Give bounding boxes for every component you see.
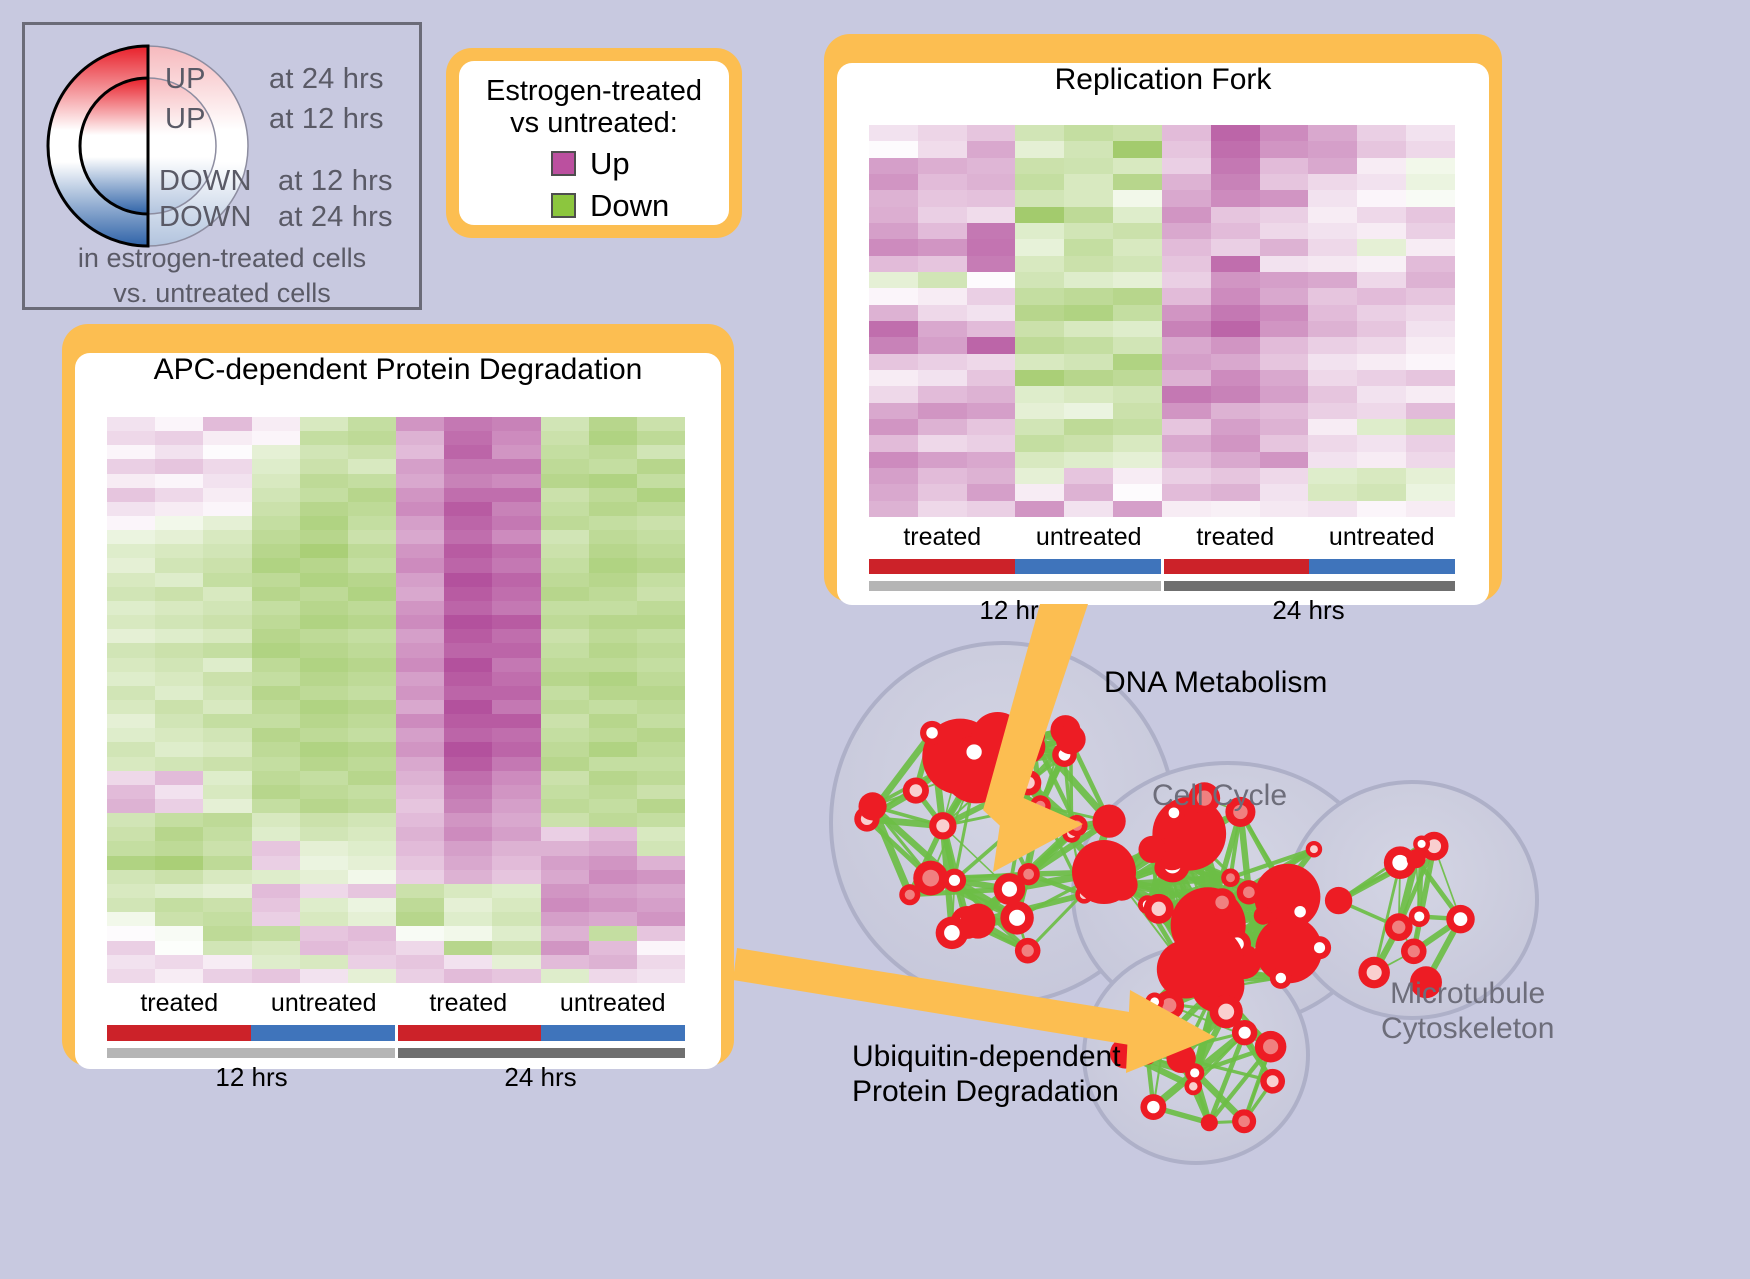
heatmap-cell xyxy=(1113,337,1162,353)
heatmap-cell xyxy=(589,488,637,502)
heatmap-cell xyxy=(589,912,637,926)
network-edge xyxy=(1244,1047,1270,1122)
network-node[interactable] xyxy=(1140,1094,1166,1120)
network-node[interactable] xyxy=(1385,913,1413,941)
heatmap-cell xyxy=(300,771,348,785)
heatmap-cell xyxy=(637,459,685,473)
heatmap-cell xyxy=(967,321,1016,337)
heatmap-cell xyxy=(300,870,348,884)
heatmap-cell xyxy=(155,587,203,601)
network-edge xyxy=(1084,821,1109,895)
heatmap-cell xyxy=(918,158,967,174)
network-node[interactable] xyxy=(1270,967,1292,989)
network-edge xyxy=(1152,812,1240,850)
network-node[interactable] xyxy=(1254,864,1320,930)
heatmap-cell xyxy=(300,488,348,502)
network-edge xyxy=(960,755,1064,757)
heatmap-cell xyxy=(967,207,1016,223)
heatmap-cell xyxy=(155,785,203,799)
heatmap-cell xyxy=(1406,468,1455,484)
heatmap-cell xyxy=(589,445,637,459)
heatmap-cell xyxy=(1406,305,1455,321)
network-node[interactable] xyxy=(1016,770,1041,795)
network-node[interactable] xyxy=(1172,926,1244,998)
heatmap-cell xyxy=(918,272,967,288)
heatmap-cell xyxy=(1162,452,1211,468)
heatmap-cell xyxy=(155,474,203,488)
heatmap-cell xyxy=(1308,419,1357,435)
group-color-segment xyxy=(1309,559,1455,574)
heatmap-cell xyxy=(300,459,348,473)
heatmap-cell xyxy=(155,643,203,657)
network-node[interactable] xyxy=(951,906,984,939)
network-edge xyxy=(1029,826,1077,874)
heatmap-cell xyxy=(348,629,396,643)
network-node[interactable] xyxy=(1030,795,1051,816)
network-node[interactable] xyxy=(1232,1020,1257,1045)
heatmap-cell xyxy=(589,841,637,855)
network-edge xyxy=(954,874,1028,880)
network-edge xyxy=(1122,853,1172,884)
heatmap-cell xyxy=(1113,386,1162,402)
heatmap-cell xyxy=(348,813,396,827)
heatmap-cell xyxy=(1406,419,1455,435)
network-node[interactable] xyxy=(1409,906,1430,927)
network-node[interactable] xyxy=(943,869,966,892)
heatmap-cell xyxy=(1260,239,1309,255)
heatmap-cell xyxy=(1406,272,1455,288)
network-node[interactable] xyxy=(1260,1069,1285,1094)
network-node[interactable] xyxy=(1446,905,1475,934)
heatmap-cell xyxy=(492,445,540,459)
network-edge xyxy=(1033,735,1077,825)
heatmap-cell xyxy=(1357,158,1406,174)
network-edge xyxy=(978,895,1084,921)
network-edge xyxy=(1416,859,1419,917)
heatmap-cell xyxy=(1211,403,1260,419)
heatmap-cell xyxy=(1015,386,1064,402)
group-color-segment xyxy=(541,1025,685,1041)
heatmap-cell xyxy=(541,827,589,841)
node-inner-ring xyxy=(1147,1101,1159,1113)
group-label: treated xyxy=(396,989,541,1018)
network-node[interactable] xyxy=(1154,855,1179,880)
heatmap-cell xyxy=(1308,484,1357,500)
heatmap-cell xyxy=(1211,419,1260,435)
heatmap-cell xyxy=(1015,256,1064,272)
network-edge xyxy=(1017,806,1040,918)
heatmap-cell xyxy=(1308,288,1357,304)
group-labels-replication-fork: treateduntreatedtreateduntreated xyxy=(869,523,1455,552)
panel-title-apc: APC-dependent Protein Degradation xyxy=(75,353,721,387)
heatmap-cell xyxy=(869,419,918,435)
heatmap-cell xyxy=(396,700,444,714)
network-edge xyxy=(1071,739,1072,833)
network-node[interactable] xyxy=(1288,900,1312,924)
network-edge xyxy=(1226,1012,1270,1047)
network-edge xyxy=(998,739,1041,806)
network-node[interactable] xyxy=(960,904,995,939)
heatmap-cell xyxy=(1308,256,1357,272)
network-node[interactable] xyxy=(854,806,879,831)
network-node[interactable] xyxy=(1145,993,1164,1012)
heatmap-cell xyxy=(252,601,300,615)
network-edge xyxy=(1186,962,1244,969)
network-edge xyxy=(1193,1073,1194,1087)
heatmap-cell xyxy=(1015,337,1064,353)
heatmap-cell xyxy=(1162,321,1211,337)
heatmap-cell xyxy=(348,955,396,969)
heatmap-cell xyxy=(1260,501,1309,517)
network-node[interactable] xyxy=(1199,972,1232,1005)
network-node[interactable] xyxy=(1325,887,1352,914)
heatmap-cell xyxy=(348,601,396,615)
network-node[interactable] xyxy=(1140,1049,1156,1065)
network-edge xyxy=(1122,868,1167,885)
heatmap-cell xyxy=(107,955,155,969)
heatmap-cell xyxy=(541,941,589,955)
network-node[interactable] xyxy=(1255,916,1322,983)
network-node[interactable] xyxy=(1138,895,1157,914)
network-edge xyxy=(1208,912,1300,925)
heatmap-cell xyxy=(300,757,348,771)
heatmap-cell xyxy=(1162,158,1211,174)
heatmap-cell xyxy=(589,941,637,955)
network-edge xyxy=(1237,897,1287,944)
network-edge xyxy=(1186,969,1226,980)
heatmap-cell xyxy=(918,419,967,435)
network-node[interactable] xyxy=(1420,832,1449,861)
network-edge xyxy=(960,739,1071,756)
heatmap-cell xyxy=(1064,125,1113,141)
heatmap-cell xyxy=(203,856,251,870)
network-node[interactable] xyxy=(1171,887,1246,962)
network-node[interactable] xyxy=(1191,959,1245,1013)
heatmap-cell xyxy=(637,658,685,672)
heatmap-cell xyxy=(869,158,918,174)
network-node[interactable] xyxy=(1093,805,1126,838)
network-edge xyxy=(1218,986,1245,1033)
network-node[interactable] xyxy=(1155,837,1189,871)
network-edge xyxy=(910,826,943,895)
heatmap-cell xyxy=(869,484,918,500)
network-node[interactable] xyxy=(1184,1078,1202,1096)
node-inner-ring xyxy=(1161,862,1173,874)
network-edge xyxy=(1374,927,1399,972)
heatmap-cell xyxy=(348,757,396,771)
network-edge xyxy=(976,770,1040,806)
heatmap-cell xyxy=(1211,125,1260,141)
heatmap-cell xyxy=(1357,403,1406,419)
heatmap-cell xyxy=(107,672,155,686)
network-edge xyxy=(1155,965,1209,1002)
network-edge xyxy=(1208,925,1215,989)
heatmap-cell xyxy=(869,207,918,223)
heatmap-cell xyxy=(589,544,637,558)
cluster-label-dna-metabolism: DNA Metabolism xyxy=(1104,666,1327,701)
heatmap-cell xyxy=(869,239,918,255)
network-edge xyxy=(943,747,1029,826)
network-edge xyxy=(943,770,977,826)
network-edge xyxy=(1222,892,1249,902)
heatmap-cell xyxy=(252,558,300,572)
heatmap-cell xyxy=(589,714,637,728)
heatmap-cell xyxy=(155,898,203,912)
network-edge xyxy=(1208,902,1222,925)
network-node[interactable] xyxy=(1208,888,1236,916)
group-labels-apc: treateduntreatedtreateduntreated xyxy=(107,989,685,1018)
heatmap-cell xyxy=(1211,321,1260,337)
heatmap-cell xyxy=(1015,321,1064,337)
network-node[interactable] xyxy=(1223,930,1251,958)
network-node[interactable] xyxy=(1185,1063,1204,1082)
group-label: untreated xyxy=(541,989,686,1018)
heatmap-cell xyxy=(300,841,348,855)
network-node[interactable] xyxy=(903,777,929,803)
network-node[interactable] xyxy=(1254,906,1272,924)
network-node[interactable] xyxy=(1050,715,1080,745)
heatmap-cell xyxy=(396,955,444,969)
network-edge xyxy=(1159,909,1208,965)
network-edge xyxy=(1249,892,1300,911)
ring-footer-line-1: in estrogen-treated cells xyxy=(25,243,419,274)
network-node[interactable] xyxy=(929,812,956,839)
heatmap-cell xyxy=(300,431,348,445)
heatmap-cell xyxy=(1308,272,1357,288)
network-edge xyxy=(1104,849,1152,872)
network-node[interactable] xyxy=(1227,945,1261,979)
heatmap-cell xyxy=(1015,305,1064,321)
network-node[interactable] xyxy=(1232,1109,1256,1133)
network-node[interactable] xyxy=(936,917,969,950)
network-edge xyxy=(1119,849,1153,880)
network-edge xyxy=(1172,865,1262,915)
heatmap-cell xyxy=(1406,288,1455,304)
heatmap-cell xyxy=(492,459,540,473)
heatmap-cell xyxy=(589,757,637,771)
heatmap-cell xyxy=(1113,223,1162,239)
network-node[interactable] xyxy=(1257,1032,1285,1060)
heatmap-cell xyxy=(967,125,1016,141)
network-edge xyxy=(1167,868,1263,916)
network-edge xyxy=(1215,978,1281,989)
heatmap-cell xyxy=(869,272,918,288)
heatmap-cell xyxy=(396,502,444,516)
network-edge xyxy=(1119,813,1174,880)
network-node[interactable] xyxy=(971,712,1024,765)
network-node[interactable] xyxy=(1193,950,1224,981)
heatmap-cell xyxy=(203,714,251,728)
network-node[interactable] xyxy=(994,873,1026,905)
network-edge xyxy=(1240,812,1248,892)
network-edge xyxy=(910,889,1010,895)
heatmap-cell xyxy=(1308,158,1357,174)
network-node[interactable] xyxy=(1210,995,1243,1028)
network-node[interactable] xyxy=(1056,724,1086,754)
network-node[interactable] xyxy=(1166,1044,1195,1073)
network-node[interactable] xyxy=(1075,886,1093,904)
heatmap-cell xyxy=(396,742,444,756)
network-edge xyxy=(1399,863,1400,927)
network-edge xyxy=(1240,812,1287,897)
node-inner-ring xyxy=(1367,965,1382,980)
heatmap-cell xyxy=(1162,305,1211,321)
network-node[interactable] xyxy=(1017,863,1039,885)
node-inner-ring xyxy=(910,784,923,797)
heatmap-cell xyxy=(967,337,1016,353)
network-node[interactable] xyxy=(1154,990,1184,1020)
network-edge xyxy=(1153,1005,1169,1107)
network-edge xyxy=(1400,859,1416,863)
legend-item-up: Up xyxy=(551,146,729,182)
heatmap-cell xyxy=(1357,370,1406,386)
heatmap-cell xyxy=(492,431,540,445)
network-node[interactable] xyxy=(1012,730,1045,763)
heatmap-cell xyxy=(1162,386,1211,402)
heatmap-cell xyxy=(155,841,203,855)
network-node[interactable] xyxy=(922,719,998,795)
heatmap-cell xyxy=(637,785,685,799)
heatmap-cell xyxy=(1015,354,1064,370)
network-node[interactable] xyxy=(1237,880,1261,904)
node-inner-ring xyxy=(1231,937,1244,950)
network-node[interactable] xyxy=(1157,940,1216,999)
heatmap-cell xyxy=(252,700,300,714)
heatmap-cell xyxy=(589,417,637,431)
heatmap-cell xyxy=(637,431,685,445)
heatmap-cell xyxy=(541,544,589,558)
network-node[interactable] xyxy=(1052,742,1077,767)
network-node[interactable] xyxy=(942,736,1010,804)
network-node[interactable] xyxy=(1020,723,1045,748)
heatmap-cell xyxy=(1064,305,1113,321)
heatmap-cell xyxy=(300,587,348,601)
network-node[interactable] xyxy=(899,884,920,905)
network-node[interactable] xyxy=(1201,1114,1218,1131)
node-inner-ring xyxy=(1152,902,1166,916)
heatmap-cell xyxy=(1260,190,1309,206)
heatmap-cell xyxy=(348,827,396,841)
heatmap-cell xyxy=(444,658,492,672)
network-node[interactable] xyxy=(1138,836,1165,863)
heatmap-cell xyxy=(918,386,967,402)
heatmap-cell xyxy=(1357,484,1406,500)
heatmap-cell xyxy=(1015,452,1064,468)
heatmap-cell xyxy=(967,141,1016,157)
legend-label-down: Down xyxy=(590,188,669,224)
heatmap-cell xyxy=(1308,174,1357,190)
network-edge xyxy=(1172,853,1208,924)
network-node[interactable] xyxy=(913,861,948,896)
network-edge xyxy=(1244,1046,1271,1121)
network-edge xyxy=(943,806,1041,826)
network-node[interactable] xyxy=(1066,815,1088,837)
heatmap-cell xyxy=(300,530,348,544)
heatmap-cell xyxy=(348,856,396,870)
network-node[interactable] xyxy=(1155,848,1190,883)
heatmap-cell xyxy=(1357,239,1406,255)
network-edge xyxy=(1033,735,1071,739)
network-node[interactable] xyxy=(858,792,886,820)
heatmap-cell xyxy=(967,256,1016,272)
heatmap-cell xyxy=(1162,435,1211,451)
network-edge xyxy=(967,921,978,922)
heatmap-cell xyxy=(203,431,251,445)
heatmap-cell xyxy=(1357,125,1406,141)
network-edge xyxy=(1193,986,1217,1087)
network-node[interactable] xyxy=(1108,870,1128,890)
network-edge xyxy=(1147,902,1222,904)
heatmap-cell xyxy=(637,955,685,969)
node-inner-ring xyxy=(1276,973,1287,984)
network-node[interactable] xyxy=(1000,901,1033,934)
heatmap-cell xyxy=(396,785,444,799)
heatmap-cell xyxy=(252,417,300,431)
network-node[interactable] xyxy=(1072,840,1136,904)
heatmap-cell xyxy=(1211,256,1260,272)
network-node[interactable] xyxy=(1407,849,1426,868)
network-edge xyxy=(1186,878,1230,969)
network-edge xyxy=(1244,1081,1273,1121)
heatmap-cell xyxy=(1211,272,1260,288)
network-node[interactable] xyxy=(920,721,944,745)
heatmap-cell xyxy=(1113,468,1162,484)
network-node[interactable] xyxy=(1306,841,1323,858)
network-edge xyxy=(976,739,1070,769)
network-node[interactable] xyxy=(1255,1031,1287,1063)
heatmap-cell xyxy=(1064,386,1113,402)
heatmap-cell xyxy=(967,272,1016,288)
network-edge xyxy=(1226,892,1249,980)
network-edge xyxy=(1226,962,1244,980)
network-node[interactable] xyxy=(1221,868,1240,887)
heatmap-cell xyxy=(1211,337,1260,353)
network-edge xyxy=(1208,897,1287,962)
node-inner-ring xyxy=(1220,975,1231,986)
heatmap-cell xyxy=(107,431,155,445)
network-edge xyxy=(1287,897,1300,912)
heatmap-cell xyxy=(203,417,251,431)
heatmap-cell xyxy=(918,452,967,468)
network-node[interactable] xyxy=(1384,846,1417,879)
network-node[interactable] xyxy=(1308,936,1331,959)
ring-time-2: at 12 hrs xyxy=(278,165,393,198)
network-node[interactable] xyxy=(1062,824,1081,843)
network-node[interactable] xyxy=(1015,938,1041,964)
heatmap-cell xyxy=(1406,125,1455,141)
network-edge xyxy=(954,880,967,922)
heatmap-cell xyxy=(1406,452,1455,468)
network-node[interactable] xyxy=(1215,969,1237,991)
heatmap-cell xyxy=(203,700,251,714)
network-node[interactable] xyxy=(958,736,990,768)
network-edge xyxy=(1186,969,1218,985)
heatmap-cell xyxy=(155,615,203,629)
network-node[interactable] xyxy=(1106,869,1138,901)
heatmap-cell xyxy=(252,841,300,855)
heatmap-cell xyxy=(396,459,444,473)
heatmap-cell xyxy=(1113,501,1162,517)
network-edge xyxy=(960,757,1028,783)
network-node[interactable] xyxy=(1413,835,1430,852)
network-node[interactable] xyxy=(1144,894,1174,924)
network-node[interactable] xyxy=(1401,939,1427,965)
heatmap-cell xyxy=(1308,125,1357,141)
network-edge xyxy=(1289,948,1320,950)
heatmap-cell xyxy=(252,884,300,898)
network-node[interactable] xyxy=(1187,967,1218,998)
heatmap-cell xyxy=(396,530,444,544)
